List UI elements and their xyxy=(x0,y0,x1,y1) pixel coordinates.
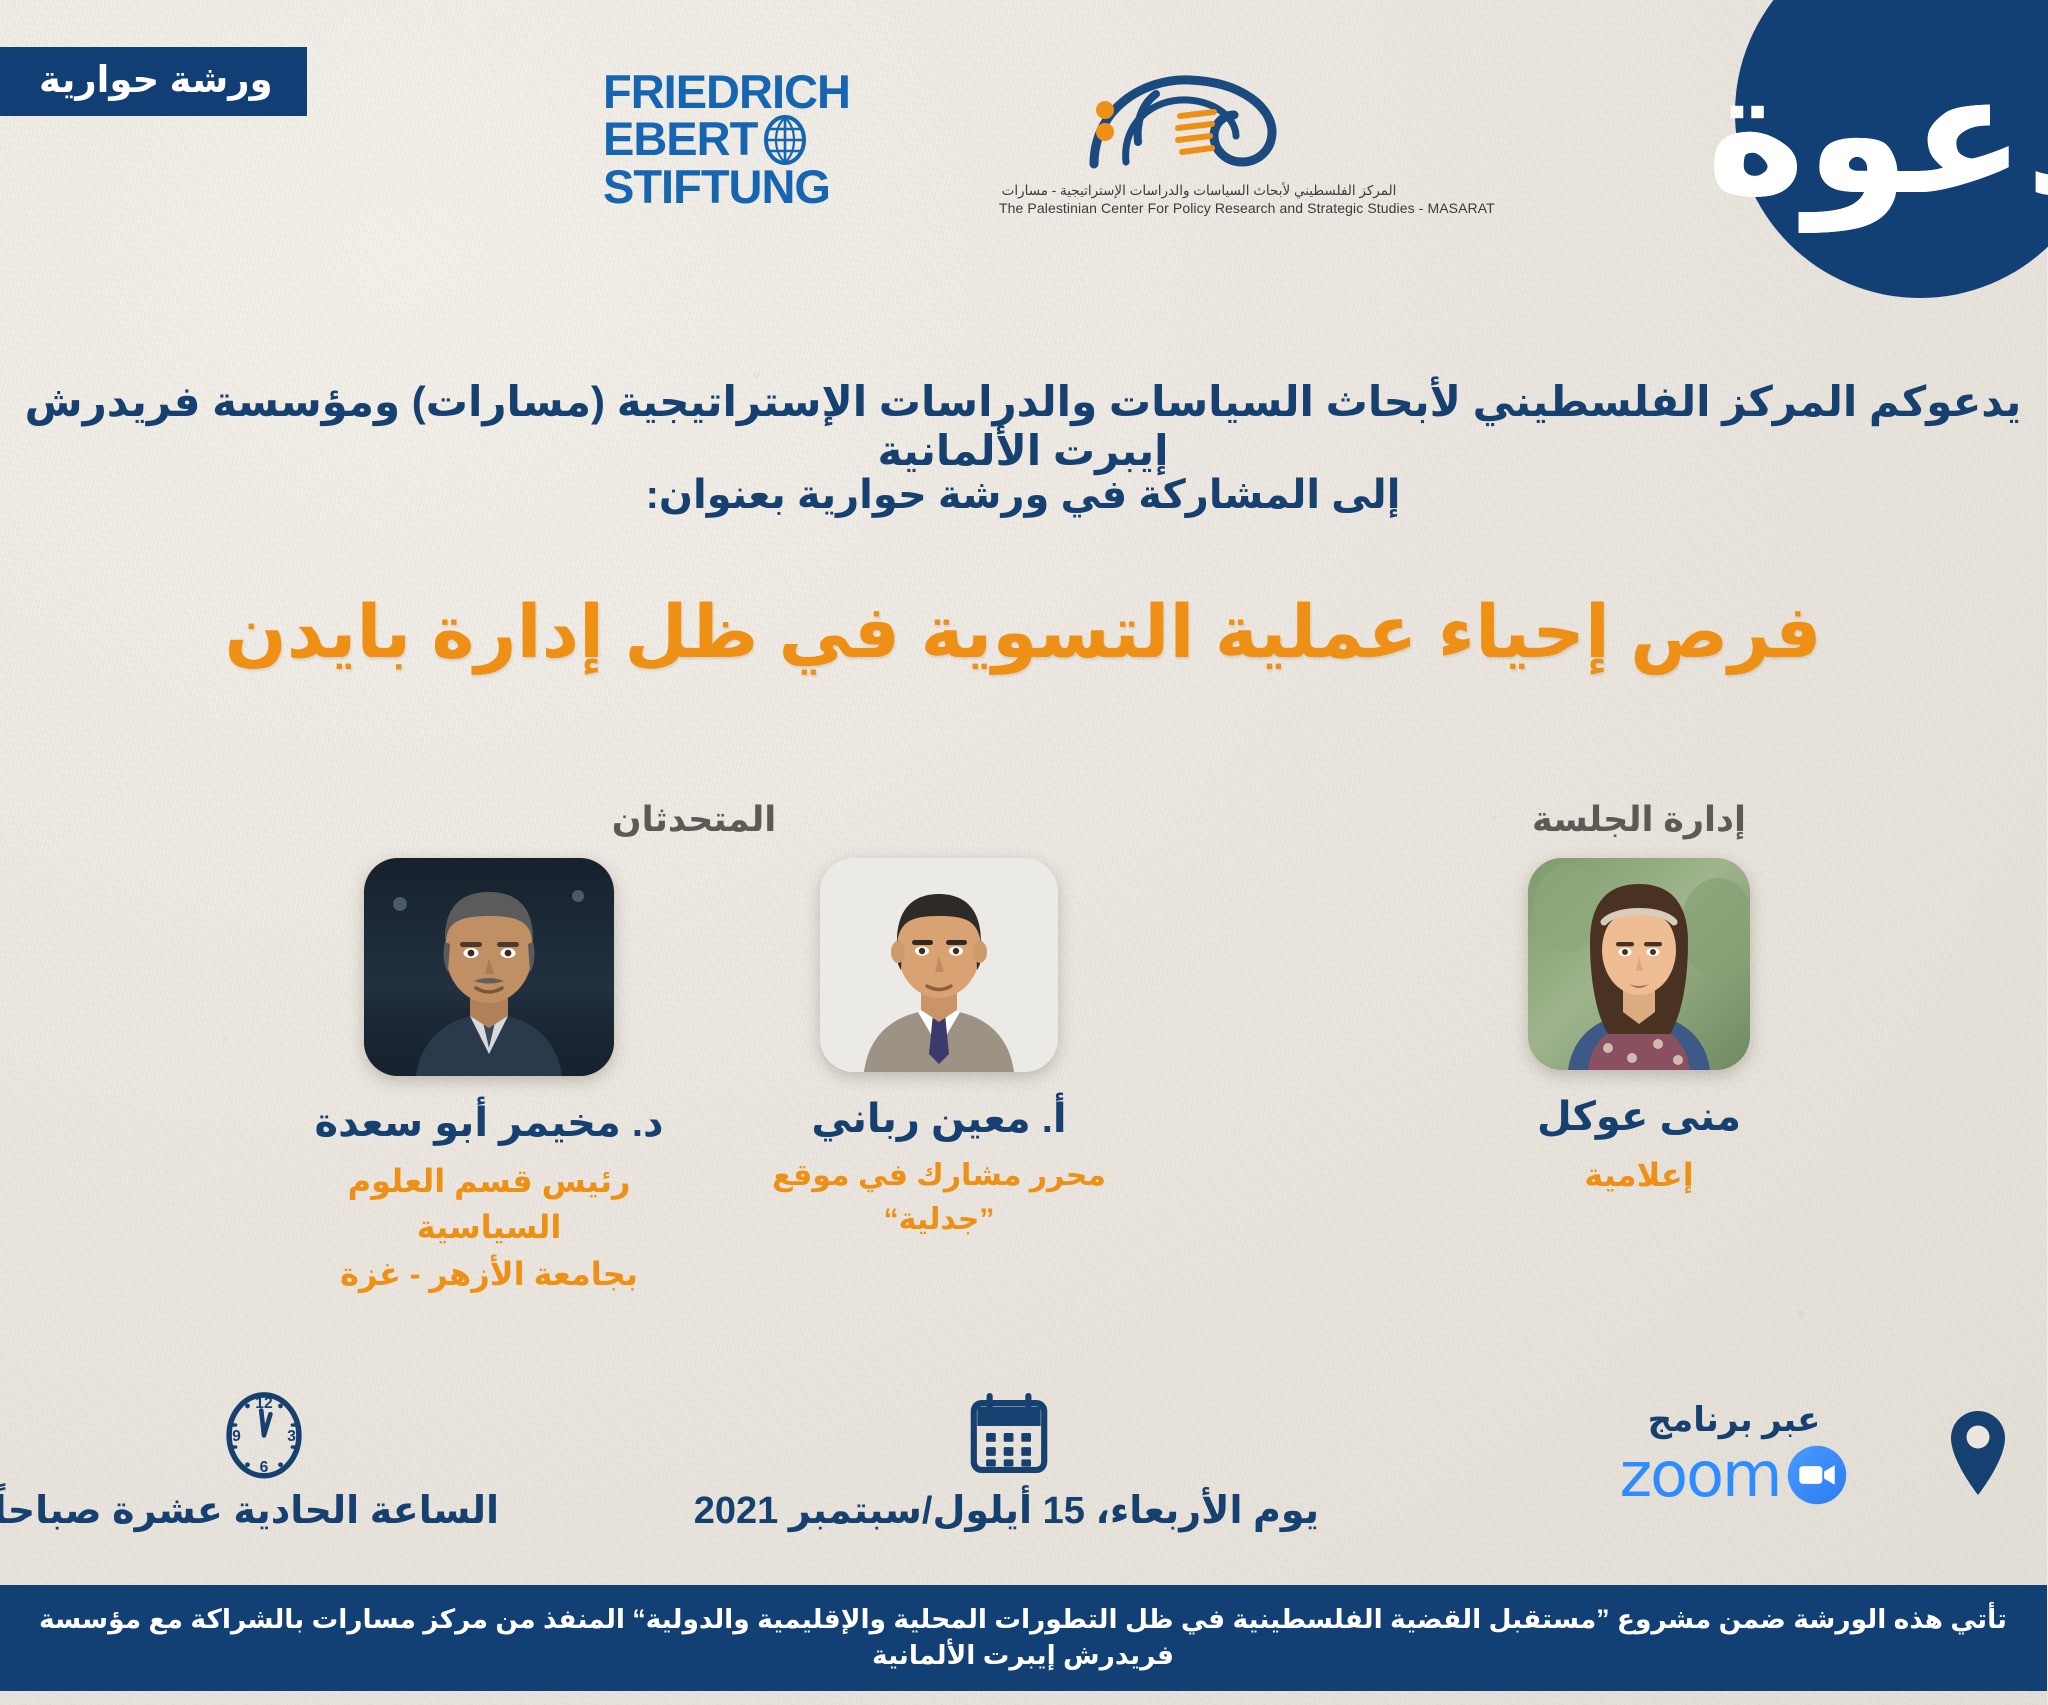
avatar xyxy=(1529,858,1751,1070)
footer-text: تأتي هذه الورشة ضمن مشروع ”مستقبل القضية… xyxy=(40,1604,2008,1670)
calendar-icon xyxy=(700,1378,1320,1488)
masarat-mark-icon: MASARAT xyxy=(1065,72,1335,180)
fes-line-2-row: EBERT xyxy=(604,115,851,165)
svg-text:6: 6 xyxy=(261,1459,270,1476)
invitation-line-1: يدعوكم المركز الفلسطيني لأبحاث السياسات … xyxy=(0,377,2048,475)
svg-text:3: 3 xyxy=(288,1427,297,1444)
footer-bar: تأتي هذه الورشة ضمن مشروع ”مستقبل القضية… xyxy=(0,1585,2048,1691)
fes-line-2: EBERT xyxy=(604,117,758,162)
zoom-logo: zoom xyxy=(1540,1444,1930,1506)
poster-canvas: ورشة حوارية FRIEDRICH EBERT STIFTUNG xyxy=(0,0,2048,1705)
fes-line-1: FRIEDRICH xyxy=(604,70,851,115)
speaker-role-line-1: رئيس قسم العلوم السياسية xyxy=(290,1158,690,1251)
speaker-card: أ. معين رباني محرر مشارك في موقع ”جدلية“ xyxy=(740,858,1140,1241)
ribbon-label: ورشة حوارية xyxy=(40,59,274,100)
avatar xyxy=(821,858,1059,1072)
avatar xyxy=(365,858,615,1076)
event-date-text: يوم الأربعاء، 15 أيلول/سبتمبر 2021 xyxy=(700,1488,1320,1533)
invitation-badge-label: دعوة xyxy=(1707,50,2048,218)
masarat-logo: MASARAT المركز الفلسطيني لأبحاث السياسات… xyxy=(1000,72,1400,216)
location-pin-icon xyxy=(1948,1405,2010,1502)
chair-name: منى عوكل xyxy=(1400,1092,1880,1142)
invitation-line-2: إلى المشاركة في ورشة حوارية بعنوان: xyxy=(0,472,2048,518)
speakers-section-label: المتحدثان xyxy=(0,800,1390,840)
venue-label: عبر برنامج xyxy=(1540,1400,1930,1440)
masarat-english-subtitle: The Palestinian Center For Policy Resear… xyxy=(1000,200,1400,216)
fes-line-3: STIFTUNG xyxy=(604,165,851,210)
svg-text:12: 12 xyxy=(256,1394,274,1411)
masarat-arabic-subtitle: المركز الفلسطيني لأبحاث السياسات والدراس… xyxy=(1000,183,1400,200)
zoom-wordmark: zoom xyxy=(1621,1444,1782,1506)
globe-icon xyxy=(764,115,808,165)
clock-icon: 12 3 6 9 xyxy=(30,1378,500,1488)
chair-section-label: إدارة الجلسة xyxy=(1420,800,1860,840)
chair-role: إعلامية xyxy=(1400,1152,1880,1198)
speaker-card: د. مخيمر أبو سعدة رئيس قسم العلوم السياس… xyxy=(290,858,690,1297)
chair-card: منى عوكل إعلامية xyxy=(1400,858,1880,1198)
fes-logo: FRIEDRICH EBERT STIFTUNG xyxy=(604,70,851,209)
event-time-text: الساعة الحادية عشرة صباحاً xyxy=(30,1488,500,1533)
svg-text:9: 9 xyxy=(233,1427,242,1444)
speaker-name: أ. معين رباني xyxy=(740,1094,1140,1144)
speaker-name: د. مخيمر أبو سعدة xyxy=(290,1098,690,1148)
workshop-type-ribbon: ورشة حوارية xyxy=(0,47,308,116)
event-time: 12 3 6 9 الساعة الحادية عشرة صباحاً xyxy=(30,1378,500,1533)
event-date: يوم الأربعاء، 15 أيلول/سبتمبر 2021 xyxy=(700,1378,1320,1533)
page-title: فرص إحياء عملية التسوية في ظل إدارة بايد… xyxy=(0,590,2048,675)
speaker-role-line-2: بجامعة الأزهر - غزة xyxy=(290,1251,690,1297)
event-venue: عبر برنامج zoom xyxy=(1540,1400,2010,1506)
speaker-role-line-1: محرر مشارك في موقع ”جدلية“ xyxy=(740,1154,1140,1241)
invitation-badge: دعوة xyxy=(1736,0,2048,298)
